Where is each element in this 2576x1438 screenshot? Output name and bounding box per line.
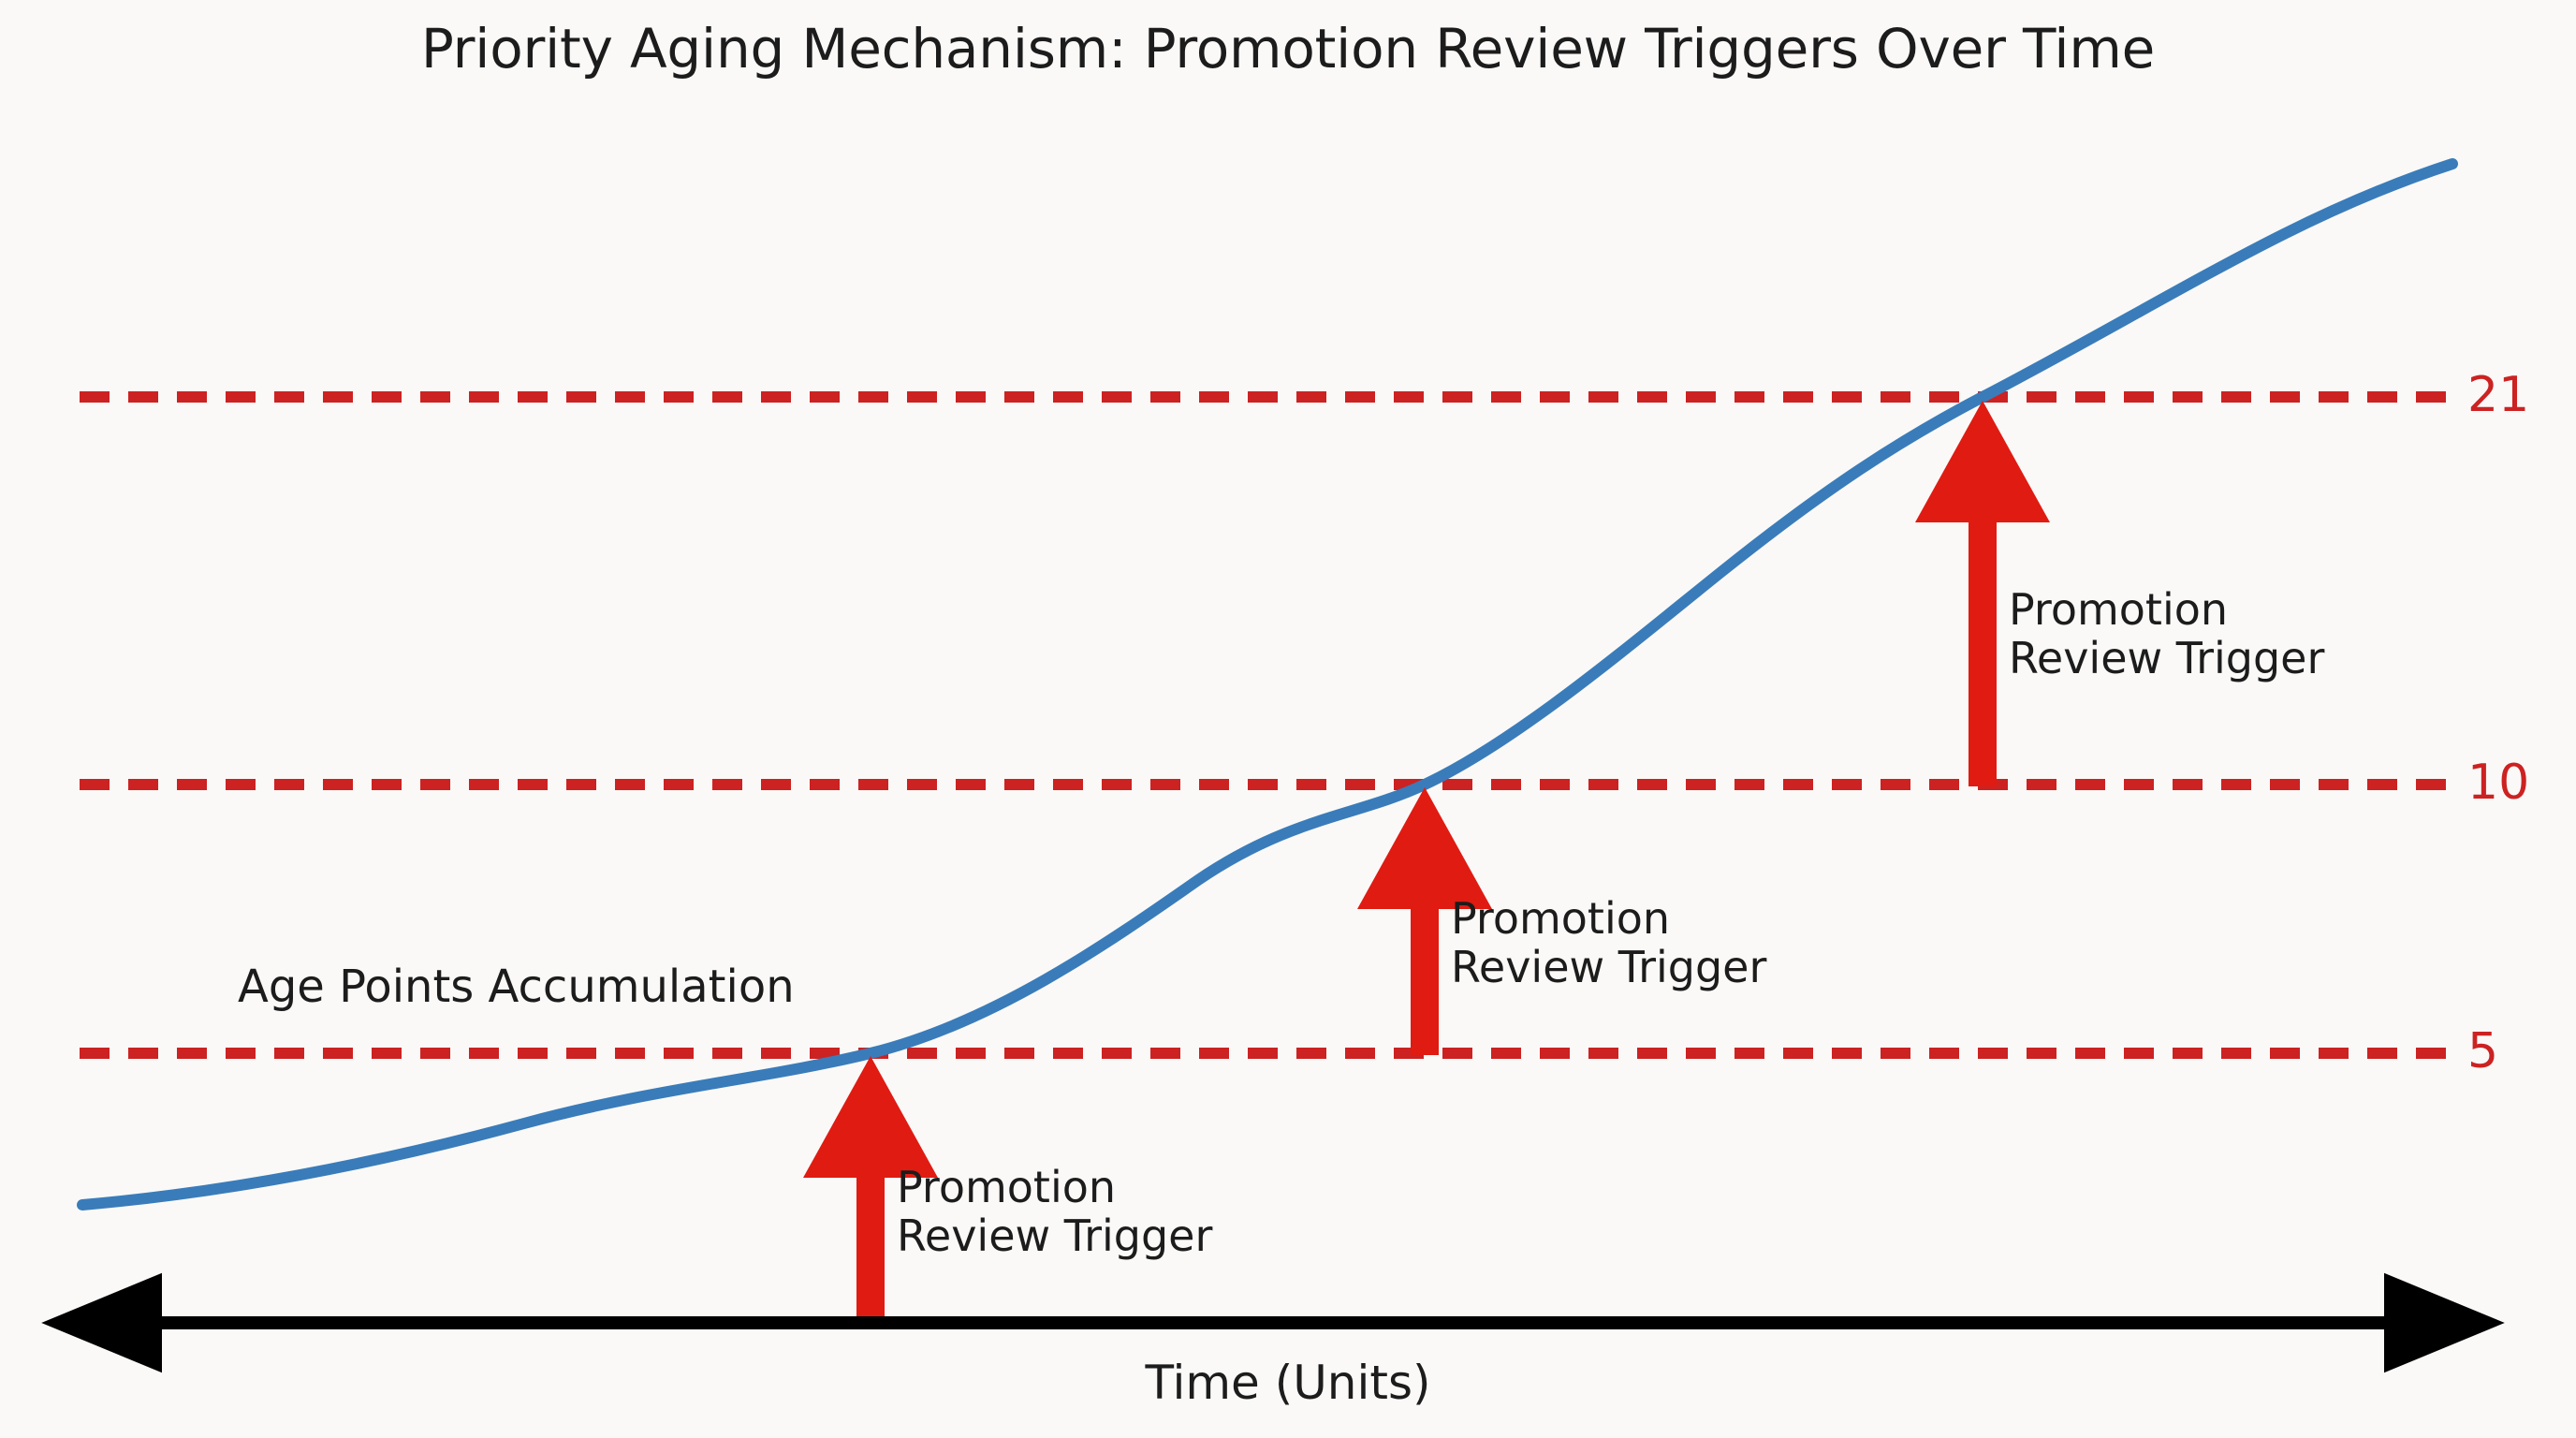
threshold-label-10: 10 <box>2467 758 2529 807</box>
chart-plot-area <box>0 0 2576 1438</box>
chart-canvas: Priority Aging Mechanism: Promotion Revi… <box>0 0 2576 1438</box>
annotation-trigger-3: Promotion Review Trigger <box>2009 586 2324 682</box>
annotation-trigger-2: Promotion Review Trigger <box>1451 895 1766 991</box>
annotation-trigger-3-line2: Review Trigger <box>2009 635 2324 683</box>
annotation-trigger-1: Promotion Review Trigger <box>897 1164 1212 1260</box>
annotation-trigger-2-line1: Promotion <box>1451 895 1766 944</box>
annotation-trigger-1-line2: Review Trigger <box>897 1212 1212 1261</box>
annotation-trigger-2-line2: Review Trigger <box>1451 944 1766 992</box>
annotation-trigger-3-line1: Promotion <box>2009 586 2324 635</box>
x-axis-label: Time (Units) <box>0 1356 2576 1410</box>
threshold-label-21: 21 <box>2467 371 2529 419</box>
annotation-trigger-1-line1: Promotion <box>897 1164 1212 1212</box>
threshold-label-5: 5 <box>2467 1027 2498 1076</box>
series-label-age-points-accumulation: Age Points Accumulation <box>238 961 795 1013</box>
